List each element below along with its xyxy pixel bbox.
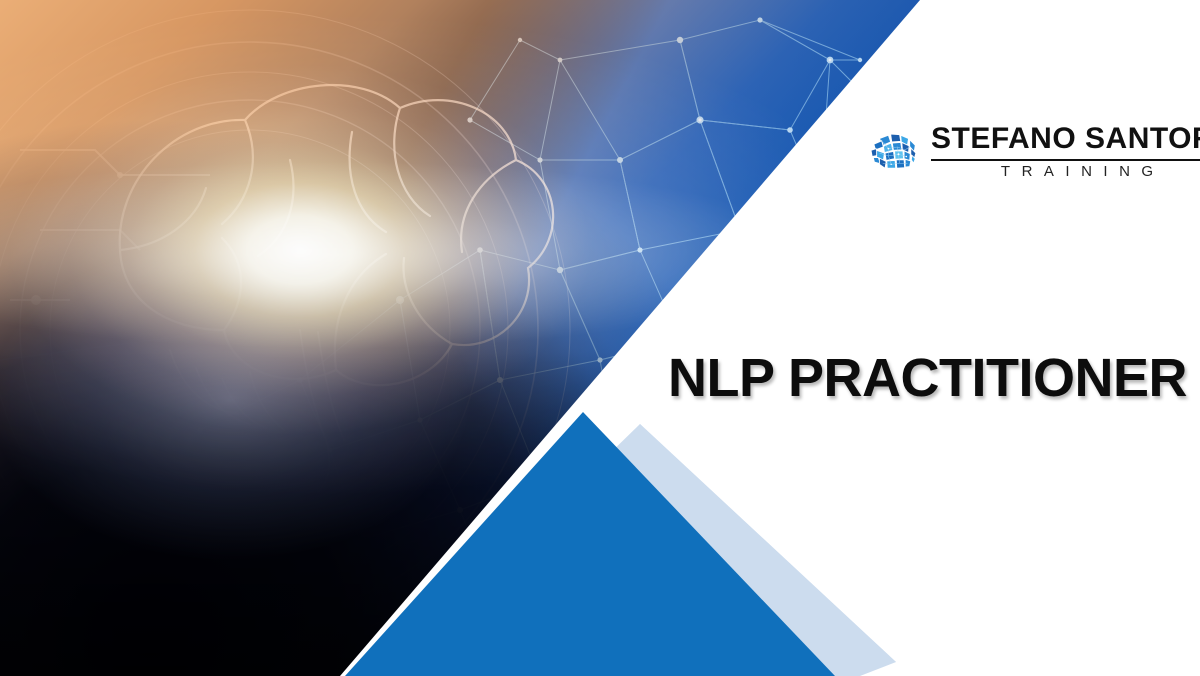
brand-name: STEFANO SANTORI — [931, 124, 1200, 154]
page-title: NLP PRACTITIONER — [668, 347, 1187, 409]
banner-canvas: STEFANO SANTORI TRAINING NLP PRACTITIONE… — [0, 0, 1200, 676]
brain-network-icon — [866, 124, 922, 180]
brand-tagline: TRAINING — [931, 164, 1200, 181]
hero-image — [0, 0, 930, 676]
hero-vignette — [0, 0, 930, 676]
brand-logo-text: STEFANO SANTORI TRAINING — [931, 124, 1200, 181]
brand-logo[interactable]: STEFANO SANTORI TRAINING — [866, 124, 1200, 181]
brand-divider — [931, 159, 1200, 161]
